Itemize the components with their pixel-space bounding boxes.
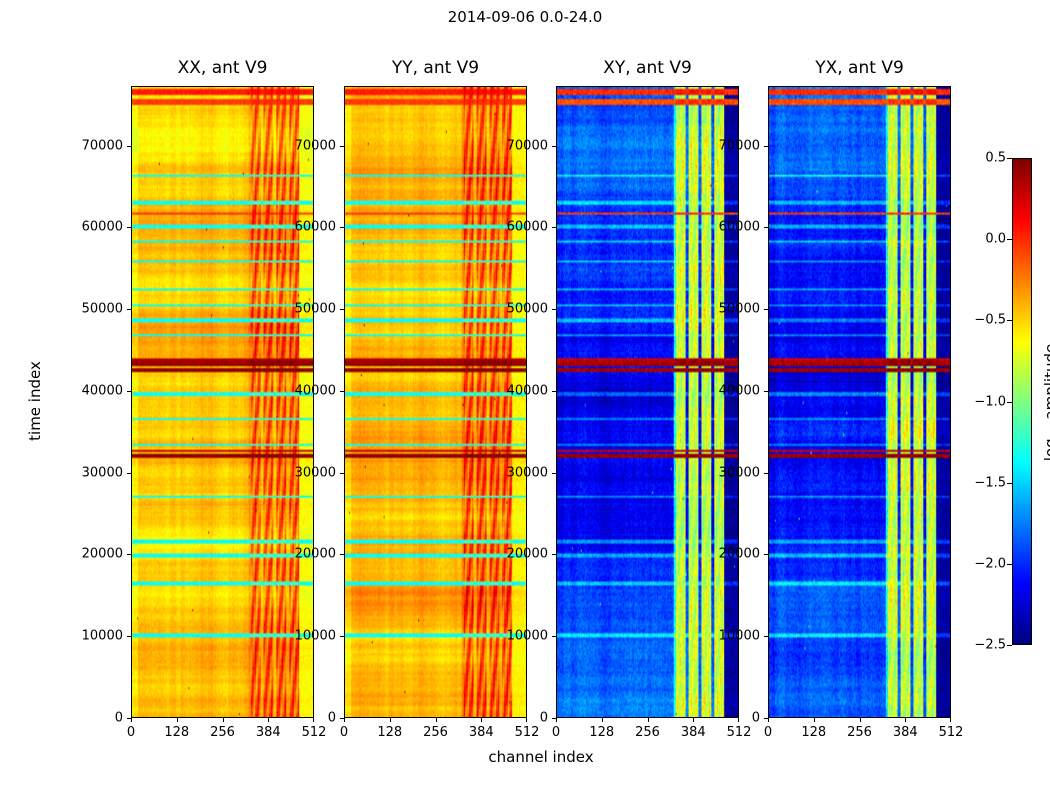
y-tick-label: 40000 (482, 383, 548, 398)
y-tick-mark (340, 473, 344, 474)
x-tick-label: 128 (377, 725, 402, 740)
y-tick-label: 70000 (482, 138, 548, 153)
y-tick-mark (764, 309, 768, 310)
panel-title: XX, ant V9 (131, 58, 314, 78)
y-tick-mark (340, 391, 344, 392)
y-tick-mark (340, 718, 344, 719)
x-tick-label: 512 (727, 725, 752, 740)
y-tick-mark (552, 227, 556, 228)
y-tick-label: 50000 (57, 302, 123, 317)
y-tick-mark (127, 636, 131, 637)
y-tick-label: 70000 (57, 138, 123, 153)
x-tick-mark (223, 718, 224, 722)
y-tick-label: 60000 (694, 220, 760, 235)
y-tick-mark (127, 227, 131, 228)
x-tick-mark (768, 718, 769, 722)
colorbar-tick-label: −2.0 (962, 556, 1006, 571)
y-tick-mark (764, 636, 768, 637)
colorbar-tick-mark (1007, 158, 1012, 159)
colorbar-tick-mark (1007, 483, 1012, 484)
y-tick-mark (340, 636, 344, 637)
y-tick-label: 30000 (57, 465, 123, 480)
y-tick-label: 0 (694, 711, 760, 726)
y-tick-label: 30000 (270, 465, 336, 480)
colorbar[interactable] (1012, 158, 1032, 645)
x-tick-mark (344, 718, 345, 722)
x-tick-label: 512 (939, 725, 964, 740)
colorbar-tick-label: 0.0 (962, 232, 1006, 247)
y-tick-label: 40000 (694, 383, 760, 398)
y-tick-mark (552, 146, 556, 147)
x-tick-mark (390, 718, 391, 722)
y-tick-label: 40000 (57, 383, 123, 398)
colorbar-tick-mark (1007, 402, 1012, 403)
x-tick-mark (648, 718, 649, 722)
y-tick-label: 50000 (694, 302, 760, 317)
panel-xy: XY, ant V9012825638451201000020000300004… (556, 86, 739, 718)
x-tick-label: 384 (893, 725, 918, 740)
y-tick-mark (552, 473, 556, 474)
y-tick-mark (764, 554, 768, 555)
panel-title: YX, ant V9 (768, 58, 951, 78)
panel-title: YY, ant V9 (344, 58, 527, 78)
y-tick-mark (127, 554, 131, 555)
x-tick-label: 0 (552, 725, 560, 740)
y-tick-label: 50000 (482, 302, 548, 317)
x-tick-label: 512 (302, 725, 327, 740)
y-axis-label: time index (26, 301, 44, 501)
y-tick-label: 60000 (57, 220, 123, 235)
y-tick-label: 10000 (270, 629, 336, 644)
y-tick-label: 30000 (482, 465, 548, 480)
x-tick-label: 128 (801, 725, 826, 740)
y-tick-label: 10000 (482, 629, 548, 644)
y-tick-label: 20000 (482, 547, 548, 562)
y-tick-mark (552, 391, 556, 392)
panel-yy: YY, ant V9012825638451201000020000300004… (344, 86, 527, 718)
colorbar-tick-label: 0.5 (962, 151, 1006, 166)
colorbar-label: log10 amplitude (1042, 302, 1050, 502)
colorbar-tick-label: −2.5 (962, 638, 1006, 653)
y-tick-mark (340, 227, 344, 228)
x-tick-label: 128 (589, 725, 614, 740)
heatmap-yy[interactable] (344, 86, 527, 718)
figure-suptitle: 2014-09-06 0.0-24.0 (0, 8, 1050, 26)
x-tick-mark (814, 718, 815, 722)
y-tick-mark (127, 391, 131, 392)
x-tick-label: 256 (847, 725, 872, 740)
panel-yx: YX, ant V9012825638451201000020000300004… (768, 86, 951, 718)
y-tick-mark (552, 554, 556, 555)
x-tick-mark (556, 718, 557, 722)
y-tick-label: 30000 (694, 465, 760, 480)
x-tick-label: 256 (423, 725, 448, 740)
colorbar-tick-label: −1.0 (962, 394, 1006, 409)
y-tick-mark (127, 146, 131, 147)
y-tick-label: 0 (57, 711, 123, 726)
x-tick-mark (950, 718, 951, 722)
x-tick-mark (436, 718, 437, 722)
y-tick-mark (764, 227, 768, 228)
x-tick-label: 384 (681, 725, 706, 740)
colorbar-tick-mark (1007, 239, 1012, 240)
x-axis-label: channel index (341, 748, 741, 766)
y-tick-mark (764, 473, 768, 474)
colorbar-tick-label: −0.5 (962, 313, 1006, 328)
colorbar-tick-mark (1007, 320, 1012, 321)
heatmap-xx[interactable] (131, 86, 314, 718)
y-tick-label: 10000 (57, 629, 123, 644)
y-tick-label: 0 (482, 711, 548, 726)
panel-title: XY, ant V9 (556, 58, 739, 78)
x-tick-mark (268, 718, 269, 722)
colorbar-tick-label: −1.5 (962, 475, 1006, 490)
x-tick-label: 384 (469, 725, 494, 740)
colorbar-tick-mark (1007, 564, 1012, 565)
figure-canvas: 2014-09-06 0.0-24.0 XX, ant V90128256384… (0, 0, 1050, 800)
y-tick-mark (764, 718, 768, 719)
panel-xx: XX, ant V9012825638451201000020000300004… (131, 86, 314, 718)
x-tick-mark (860, 718, 861, 722)
x-tick-mark (905, 718, 906, 722)
y-tick-label: 10000 (694, 629, 760, 644)
x-tick-label: 0 (340, 725, 348, 740)
y-tick-label: 20000 (57, 547, 123, 562)
x-tick-label: 0 (127, 725, 135, 740)
y-tick-mark (552, 718, 556, 719)
x-tick-label: 256 (210, 725, 235, 740)
y-tick-label: 40000 (270, 383, 336, 398)
heatmap-yx[interactable] (768, 86, 951, 718)
y-tick-mark (340, 309, 344, 310)
y-tick-label: 60000 (270, 220, 336, 235)
y-tick-mark (340, 146, 344, 147)
x-tick-label: 512 (515, 725, 540, 740)
colorbar-tick-mark (1007, 645, 1012, 646)
y-tick-label: 50000 (270, 302, 336, 317)
y-tick-label: 70000 (694, 138, 760, 153)
x-tick-mark (177, 718, 178, 722)
y-tick-mark (764, 391, 768, 392)
y-tick-label: 20000 (694, 547, 760, 562)
y-tick-label: 20000 (270, 547, 336, 562)
y-tick-mark (552, 309, 556, 310)
x-tick-label: 0 (764, 725, 772, 740)
x-tick-label: 256 (635, 725, 660, 740)
x-tick-label: 384 (256, 725, 281, 740)
x-tick-mark (131, 718, 132, 722)
colorbar-gradient (1012, 158, 1032, 645)
y-tick-mark (552, 636, 556, 637)
x-tick-mark (602, 718, 603, 722)
y-tick-mark (340, 554, 344, 555)
y-tick-label: 0 (270, 711, 336, 726)
y-tick-mark (127, 473, 131, 474)
x-tick-label: 128 (164, 725, 189, 740)
heatmap-xy[interactable] (556, 86, 739, 718)
y-tick-mark (127, 718, 131, 719)
y-tick-label: 60000 (482, 220, 548, 235)
y-tick-mark (764, 146, 768, 147)
y-tick-label: 70000 (270, 138, 336, 153)
y-tick-mark (127, 309, 131, 310)
